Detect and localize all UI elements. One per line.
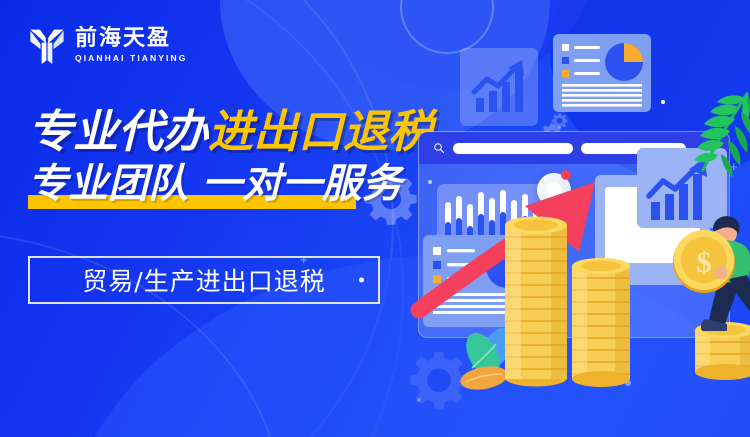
headline-line-1-yellow: 进出口退税 (208, 105, 433, 158)
search-input[interactable] (453, 143, 573, 154)
document-card (553, 34, 651, 112)
qianhai-y-mark-icon (28, 26, 66, 64)
tagline-text: 贸易/生产进出口退税 (82, 262, 325, 298)
illustration: $ (405, 0, 750, 437)
headline-block: 专业代办进出口退税 专业团队 一对一服务 (28, 108, 428, 205)
headline-line-2: 专业团队 一对一服务 (28, 163, 428, 205)
coin-stack-icon (503, 213, 569, 388)
coin-dollar-symbol: $ (697, 246, 712, 279)
headline-line-2-wrap: 专业团队 一对一服务 (28, 163, 428, 205)
promo-banner: + + + + 前海天盈 QIANHAI TIANYING (0, 0, 750, 437)
headline-line-1: 专业代办进出口退税 (28, 108, 428, 155)
brand-name-cn: 前海天盈 (75, 27, 187, 50)
headline-line-1-white: 专业代办 (28, 105, 208, 158)
bar-chart-growth-icon (460, 48, 538, 126)
brand-name-en: QIANHAI TIANYING (75, 53, 187, 63)
document-pie-chart-icon (553, 34, 651, 112)
search-icon (433, 142, 445, 154)
growth-card (460, 48, 538, 126)
palm-leaf-icon (685, 88, 750, 193)
brand-logo[interactable]: 前海天盈 QIANHAI TIANYING (28, 26, 187, 64)
person-carrying-coin-icon: $ (667, 209, 750, 334)
coin-stack-icon (570, 255, 632, 388)
